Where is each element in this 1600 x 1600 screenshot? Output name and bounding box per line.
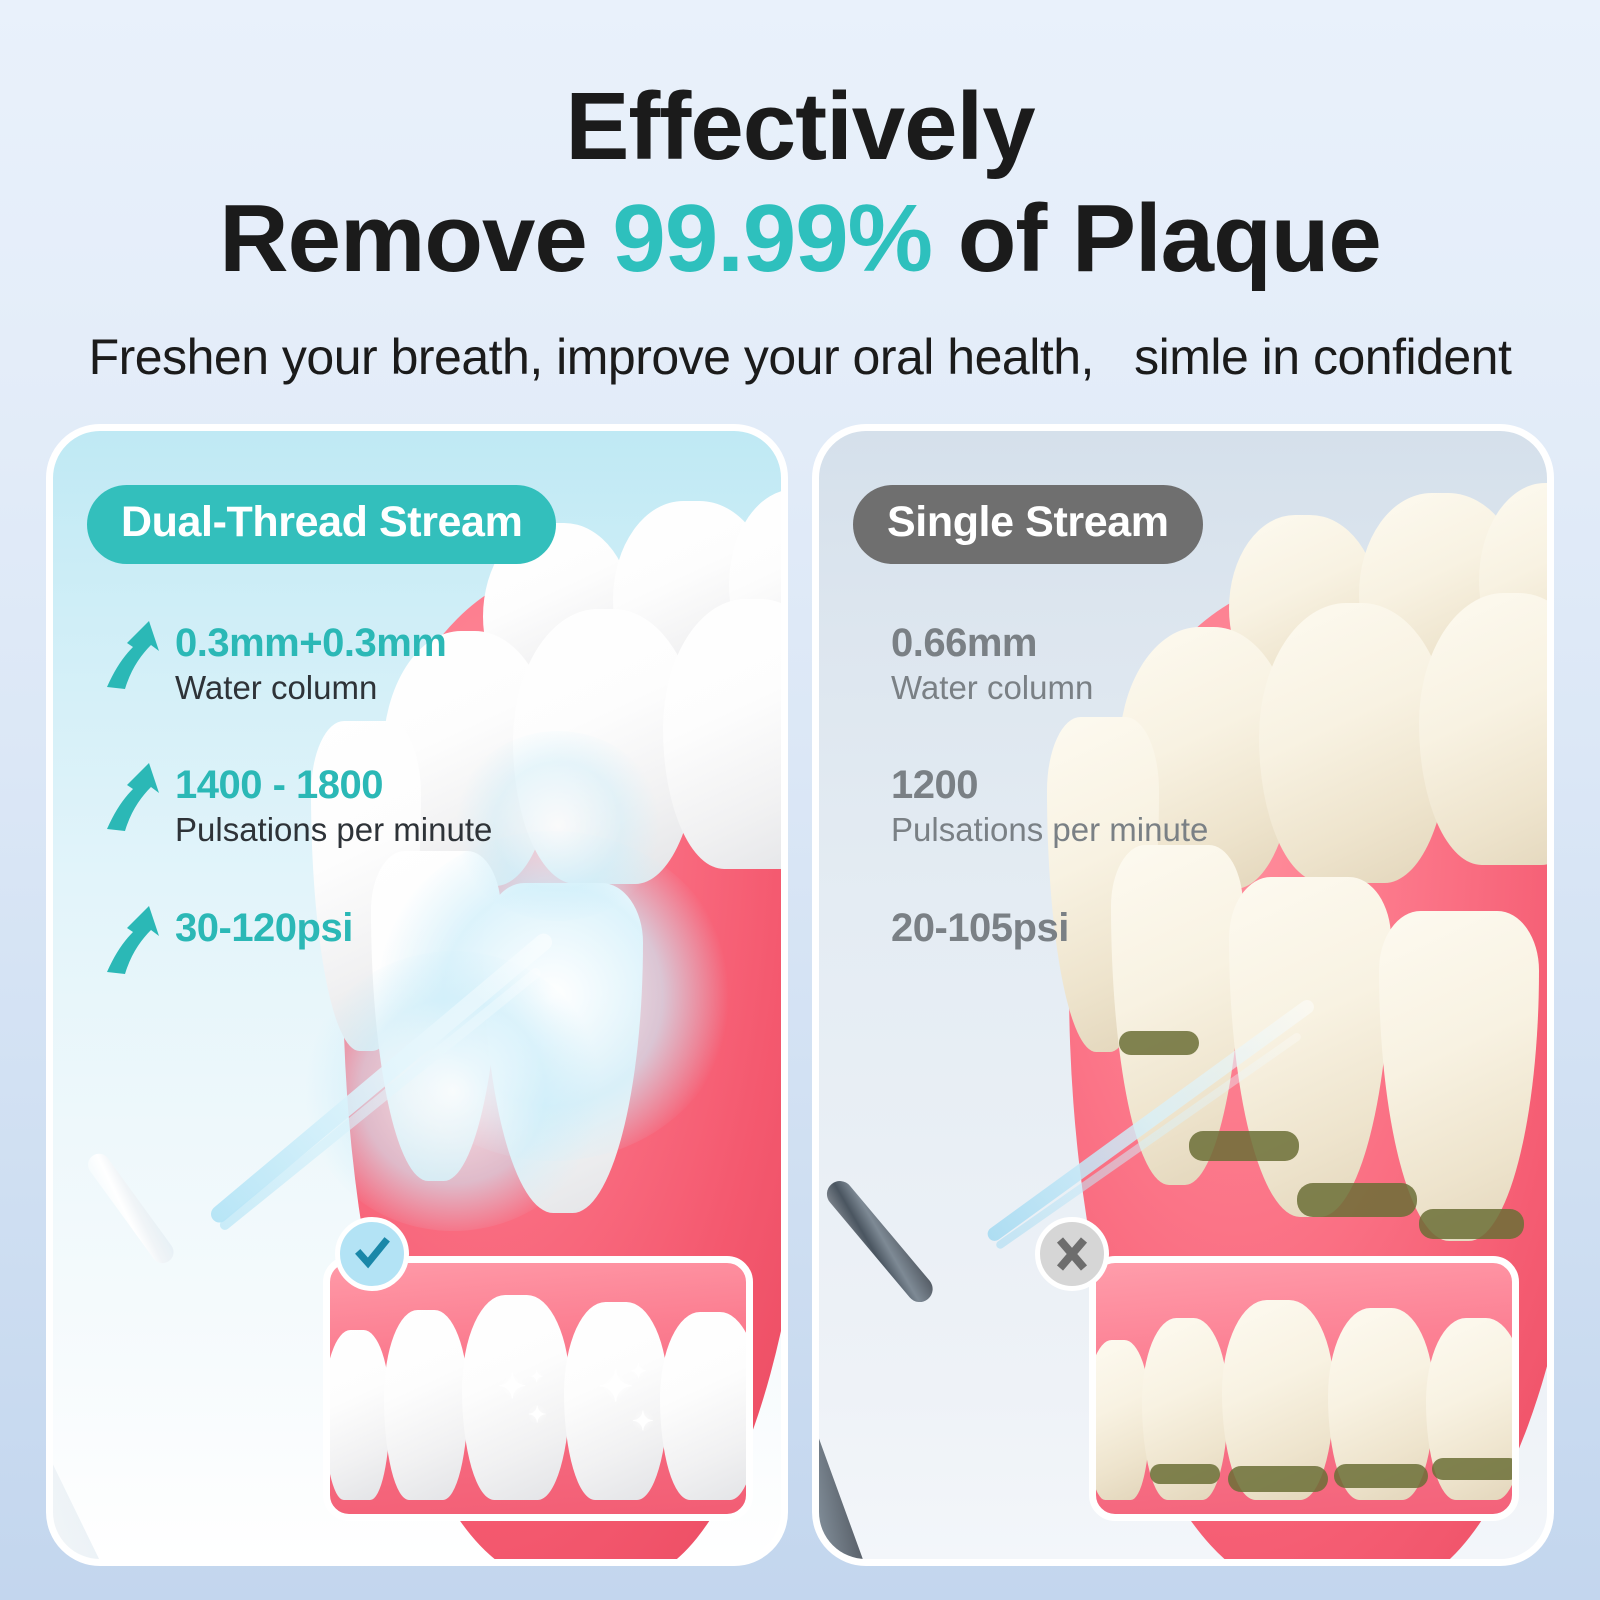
check-badge <box>335 1217 409 1291</box>
tooth <box>384 1310 468 1500</box>
tooth <box>324 1330 390 1500</box>
header: Effectively Remove 99.99% of Plaque Fres… <box>0 0 1600 386</box>
sparkle-icon: ✦ <box>498 1370 527 1404</box>
tooth <box>1089 1340 1150 1500</box>
sparkle-icon: ✦ <box>632 1408 654 1434</box>
spec-list-dual-thread: 0.3mm+0.3mm Water column 1400 - 1800 Pul… <box>99 621 619 1048</box>
inset-plaque-teeth <box>1089 1256 1519 1521</box>
spec-item: 30-120psi <box>99 906 619 992</box>
spec-value: 1200 <box>891 763 1385 808</box>
nozzle-tip <box>53 1207 111 1559</box>
card-dual-thread-stream[interactable]: ✦ ✦ ✦ ✦ ✦ ✦ Dual-Thread Stream 0.3mm+0.3… <box>46 424 788 1566</box>
inset-clean-teeth: ✦ ✦ ✦ ✦ ✦ ✦ <box>323 1256 753 1521</box>
sparkle-icon: ✦ <box>528 1404 546 1426</box>
spec-label: Pulsations per minute <box>891 810 1385 850</box>
spec-value: 30-120psi <box>175 906 619 951</box>
swoosh-up-arrow-icon <box>105 617 165 691</box>
swoosh-up-arrow-icon <box>105 759 165 833</box>
sparkle-icon: ✦ <box>598 1366 633 1408</box>
card-title-pill-single-stream: Single Stream <box>853 485 1203 564</box>
check-icon <box>350 1232 394 1276</box>
sparkle-icon: ✦ <box>530 1370 543 1386</box>
card-title-pill-dual-thread: Dual-Thread Stream <box>87 485 556 564</box>
card-single-stream[interactable]: Single Stream 0.66mm Water column 1200 P… <box>812 424 1554 1566</box>
plaque-deposit <box>1150 1464 1220 1484</box>
spec-list-single-stream: 0.66mm Water column 1200 Pulsations per … <box>865 621 1385 1048</box>
spec-value: 1400 - 1800 <box>175 763 619 808</box>
headline-suffix: of Plaque <box>932 185 1381 292</box>
headline-line-1: Effectively <box>0 78 1600 176</box>
spec-item: 1200 Pulsations per minute <box>865 763 1385 849</box>
plaque-deposit <box>1228 1466 1328 1492</box>
nozzle-tip <box>822 1176 938 1308</box>
spec-value: 0.66mm <box>891 621 1385 666</box>
plaque-deposit <box>1189 1131 1299 1161</box>
headline-percent-highlight: 99.99% <box>612 185 932 292</box>
spec-label: Pulsations per minute <box>175 810 619 850</box>
swoosh-up-arrow-icon <box>105 902 165 976</box>
headline-line-2: Remove 99.99% of Plaque <box>0 190 1600 288</box>
tooth <box>660 1312 753 1500</box>
nozzle-tip <box>819 1229 876 1559</box>
cross-badge <box>1035 1217 1109 1291</box>
plaque-deposit <box>1297 1183 1417 1217</box>
plaque-deposit <box>1334 1464 1428 1488</box>
spec-value: 0.3mm+0.3mm <box>175 621 619 666</box>
spec-item: 0.3mm+0.3mm Water column <box>99 621 619 707</box>
spec-item: 1400 - 1800 Pulsations per minute <box>99 763 619 849</box>
spec-label: Water column <box>175 668 619 708</box>
nozzle-tip <box>84 1149 178 1267</box>
subtitle: Freshen your breath, improve your oral h… <box>0 328 1600 386</box>
spec-label: Water column <box>891 668 1385 708</box>
plaque-deposit <box>1419 1209 1524 1239</box>
spec-item: 0.66mm Water column <box>865 621 1385 707</box>
headline-prefix: Remove <box>219 185 612 292</box>
plaque-deposit <box>1432 1458 1519 1480</box>
comparison-cards: ✦ ✦ ✦ ✦ ✦ ✦ Dual-Thread Stream 0.3mm+0.3… <box>0 424 1600 1574</box>
spec-value: 20-105psi <box>891 906 1385 951</box>
spec-item: 20-105psi <box>865 906 1385 992</box>
cross-icon <box>1050 1232 1094 1276</box>
sparkle-icon: ✦ <box>630 1362 647 1382</box>
